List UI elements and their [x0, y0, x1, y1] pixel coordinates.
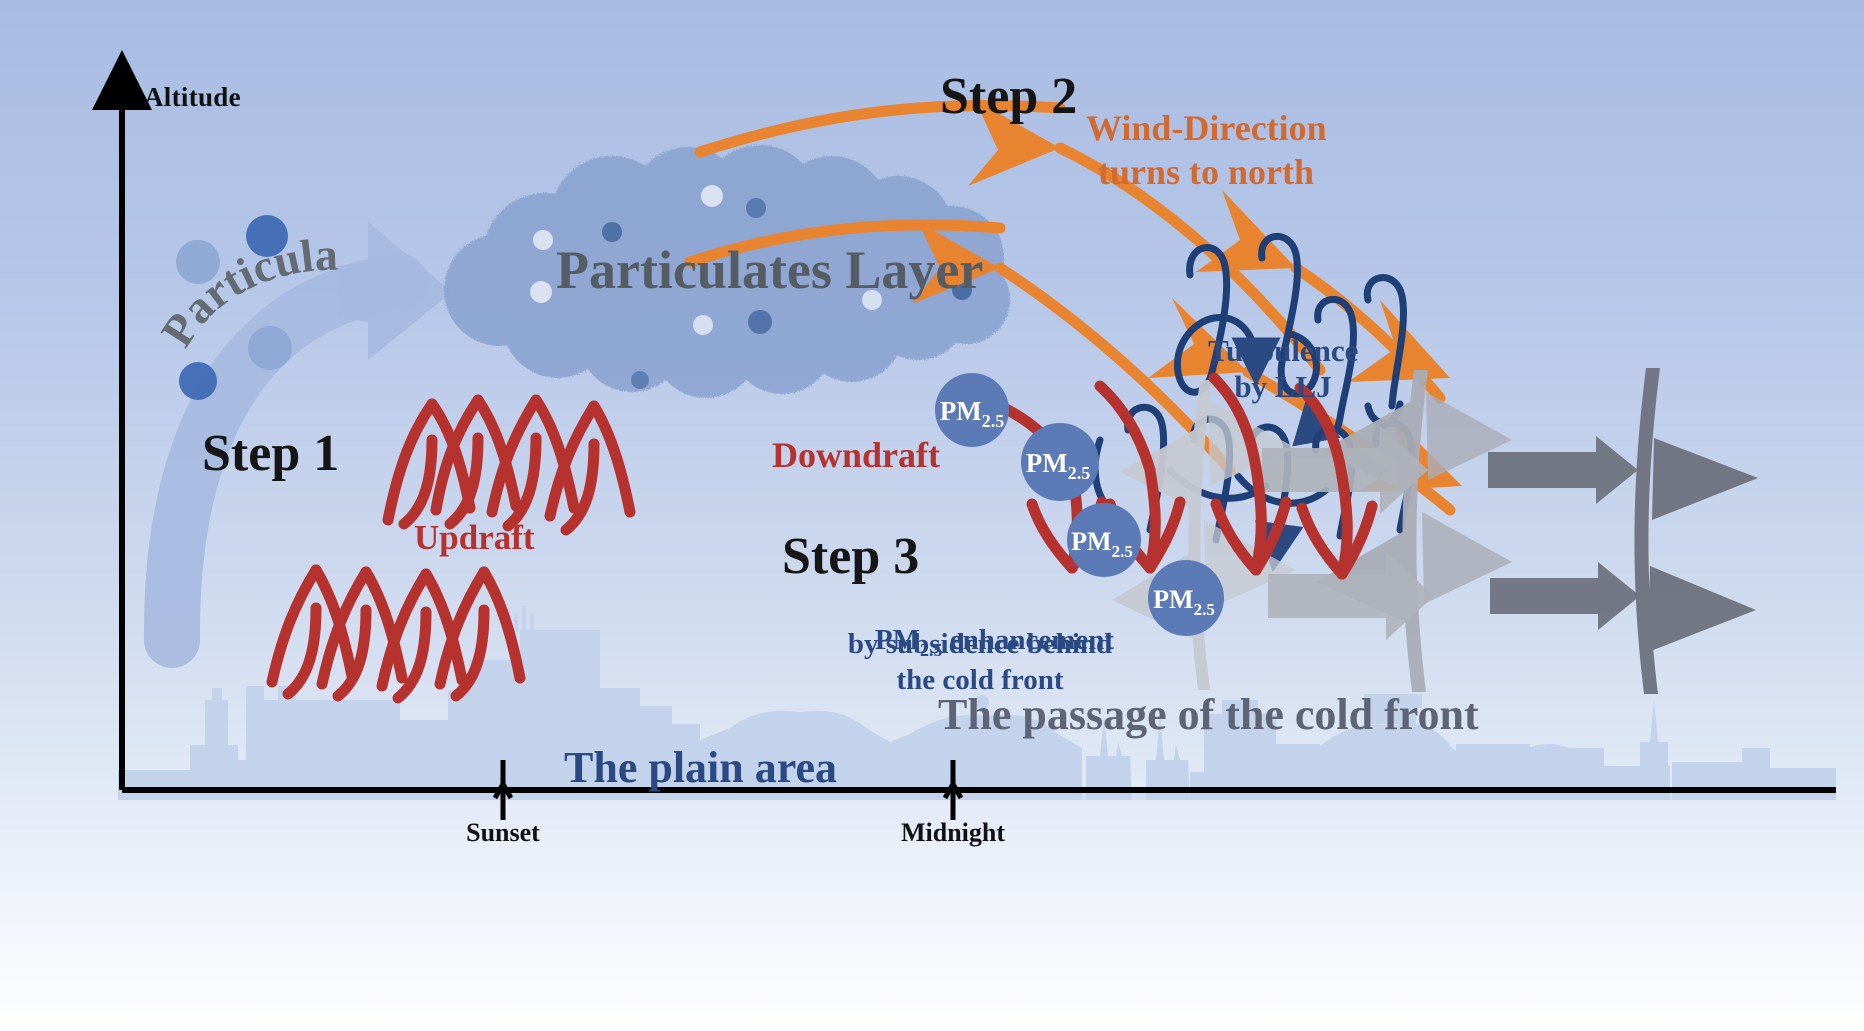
step2-label: Step 2	[940, 68, 1077, 126]
step3-label: Step 3	[782, 528, 919, 586]
step1-label: Step 1	[202, 425, 339, 483]
cold-front-passage-label: The passage of the cold front	[938, 690, 1479, 739]
x-tick-label-sunset: Sunset	[403, 818, 603, 847]
downdraft-label: Downdraft	[772, 435, 940, 475]
updraft-label: Updraft	[414, 518, 535, 557]
sky-background	[0, 0, 1864, 1031]
x-tick-label-midnight: Midnight	[853, 818, 1053, 847]
turbulence-label-line2: by LLJ	[1208, 370, 1358, 405]
particulates-layer-label: Particulates Layer	[556, 240, 983, 300]
turbulence-label-line1: Turbulence	[1208, 334, 1358, 369]
wind-direction-label-line1: Wind-Direction	[1086, 108, 1326, 148]
y-axis-label: Altitude	[144, 82, 241, 112]
step3-desc-line2: by subsidence behind	[700, 628, 1260, 660]
diagram-canvas: PM2.5 PM2.5 PM2.5 PM2.5 Altitude Particu…	[0, 0, 1864, 1031]
wind-direction-label-line2: turns to north	[1086, 152, 1326, 192]
plain-area-label: The plain area	[564, 743, 837, 792]
